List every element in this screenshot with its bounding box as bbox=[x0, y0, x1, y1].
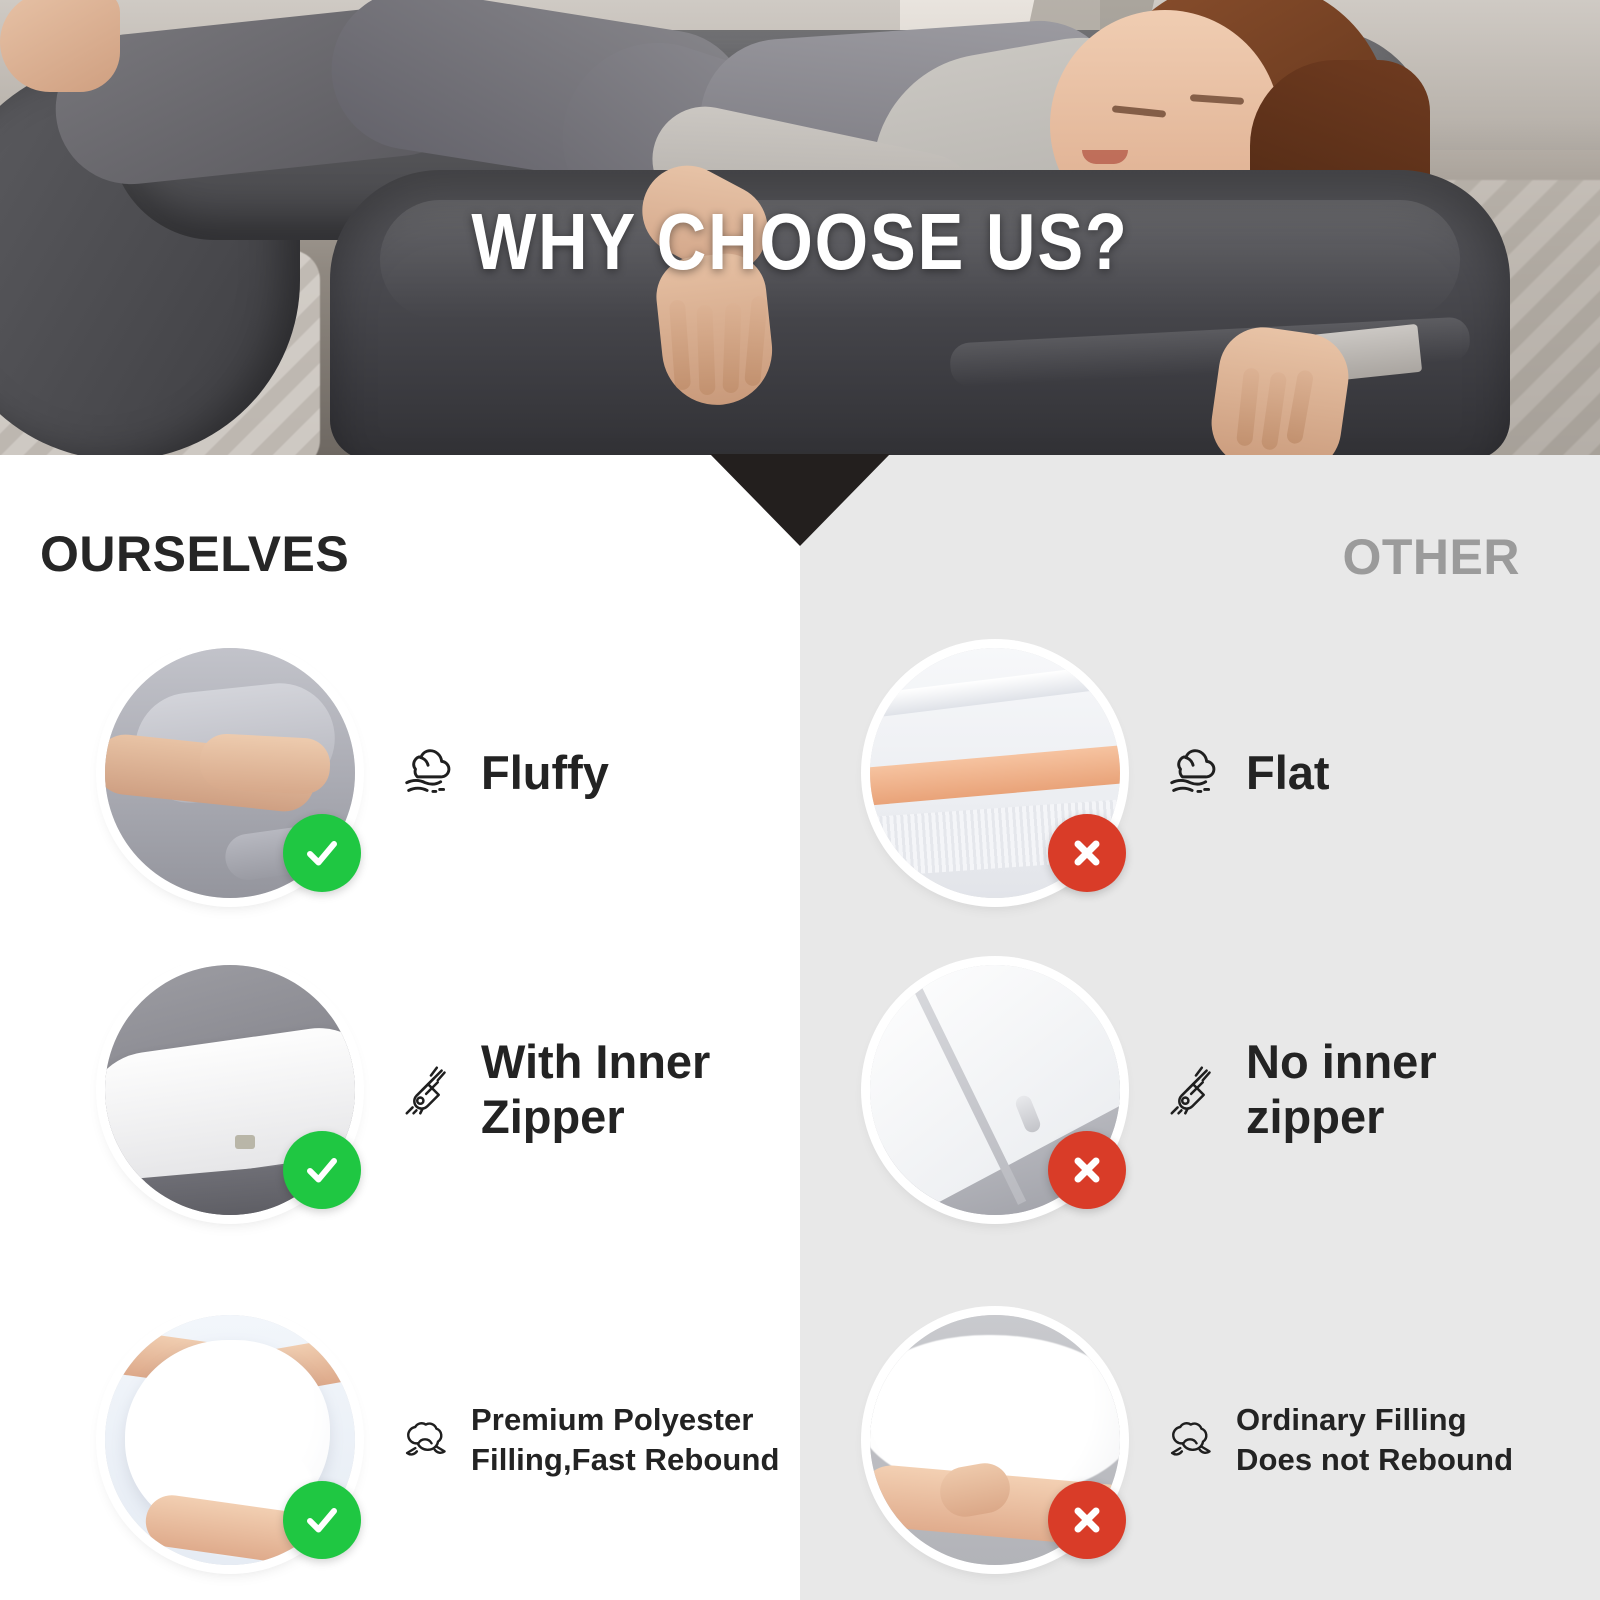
thumbnail-wrap bbox=[105, 648, 355, 898]
model-mouth bbox=[1082, 150, 1128, 164]
cotton-fill-icon bbox=[1164, 1414, 1216, 1466]
product-comparison-infographic: WHY CHOOSE US? OURSELVES OTHER bbox=[0, 0, 1600, 1600]
cross-icon bbox=[1065, 1148, 1109, 1192]
check-badge bbox=[283, 1481, 361, 1559]
thumbnail-wrap bbox=[105, 965, 355, 1215]
feature-text: Premium Polyester Filling,Fast Rebound bbox=[399, 1400, 780, 1479]
cross-badge bbox=[1048, 1131, 1126, 1209]
feature-row-zipper-other: No inner zipper bbox=[870, 965, 1546, 1215]
feature-row-filling-other: Ordinary Filling Does not Rebound bbox=[870, 1315, 1513, 1565]
feature-label: With Inner Zipper bbox=[481, 1035, 801, 1144]
feature-text: No inner zipper bbox=[1164, 1035, 1546, 1144]
thumbnail-wrap bbox=[870, 648, 1120, 898]
thumbnail-wrap bbox=[870, 965, 1120, 1215]
check-icon bbox=[300, 1498, 344, 1542]
feature-label-line1: Ordinary Filling bbox=[1236, 1400, 1513, 1440]
cross-badge bbox=[1048, 1481, 1126, 1559]
fluffy-cloud-icon bbox=[1164, 742, 1226, 804]
thumbnail-wrap bbox=[870, 1315, 1120, 1565]
fluffy-cloud-icon bbox=[399, 742, 461, 804]
cross-icon bbox=[1065, 1498, 1109, 1542]
feature-text: Flat bbox=[1164, 742, 1330, 804]
check-badge bbox=[283, 1131, 361, 1209]
check-badge bbox=[283, 814, 361, 892]
feature-row-flat-other: Flat bbox=[870, 648, 1330, 898]
zipper-icon bbox=[1164, 1059, 1226, 1121]
feature-row-filling-ours: Premium Polyester Filling,Fast Rebound bbox=[105, 1315, 780, 1565]
divider-arrow-icon bbox=[710, 454, 890, 546]
hero-banner: WHY CHOOSE US? bbox=[0, 0, 1600, 455]
feature-label: Fluffy bbox=[481, 746, 609, 801]
other-header: OTHER bbox=[1343, 528, 1521, 586]
model-foot bbox=[0, 0, 120, 92]
zipper-icon bbox=[399, 1059, 461, 1121]
model-finger-3 bbox=[722, 303, 741, 394]
cotton-fill-icon bbox=[399, 1414, 451, 1466]
feature-label: No inner zipper bbox=[1246, 1035, 1546, 1144]
cross-icon bbox=[1065, 831, 1109, 875]
check-icon bbox=[300, 1148, 344, 1192]
feature-label-line1: Premium Polyester bbox=[471, 1400, 780, 1440]
cross-badge bbox=[1048, 814, 1126, 892]
model-finger-2 bbox=[696, 305, 715, 396]
feature-text: Fluffy bbox=[399, 742, 609, 804]
thumbnail-wrap bbox=[105, 1315, 355, 1565]
check-icon bbox=[300, 831, 344, 875]
feature-label-line2: Does not Rebound bbox=[1236, 1440, 1513, 1480]
ourselves-header: OURSELVES bbox=[40, 525, 349, 583]
feature-label: Flat bbox=[1246, 746, 1330, 801]
page-title: WHY CHOOSE US? bbox=[112, 196, 1488, 288]
feature-label-line2: Filling,Fast Rebound bbox=[471, 1440, 780, 1480]
feature-text: Ordinary Filling Does not Rebound bbox=[1164, 1400, 1513, 1479]
feature-row-fluffy-ours: Fluffy bbox=[105, 648, 609, 898]
feature-row-zipper-ours: With Inner Zipper bbox=[105, 965, 801, 1215]
feature-label: Ordinary Filling Does not Rebound bbox=[1236, 1400, 1513, 1479]
feature-text: With Inner Zipper bbox=[399, 1035, 801, 1144]
feature-label: Premium Polyester Filling,Fast Rebound bbox=[471, 1400, 780, 1479]
